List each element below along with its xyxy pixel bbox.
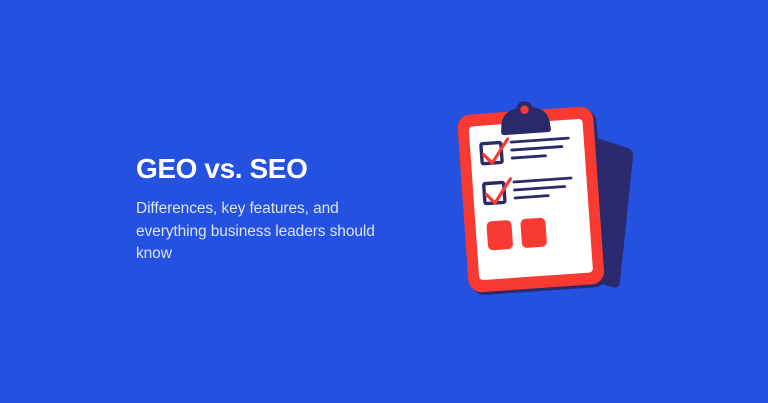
tile: [520, 218, 547, 249]
page-subtitle: Differences, key features, and everythin…: [136, 185, 398, 265]
text-block: GEO vs. SEO Differences, key features, a…: [136, 152, 426, 265]
tile: [486, 220, 513, 251]
page-title: GEO vs. SEO: [136, 152, 426, 185]
clipboard-checklist-illustration: [452, 96, 652, 296]
banner: GEO vs. SEO Differences, key features, a…: [0, 0, 768, 403]
clipboard-clip-icon: [499, 102, 551, 136]
